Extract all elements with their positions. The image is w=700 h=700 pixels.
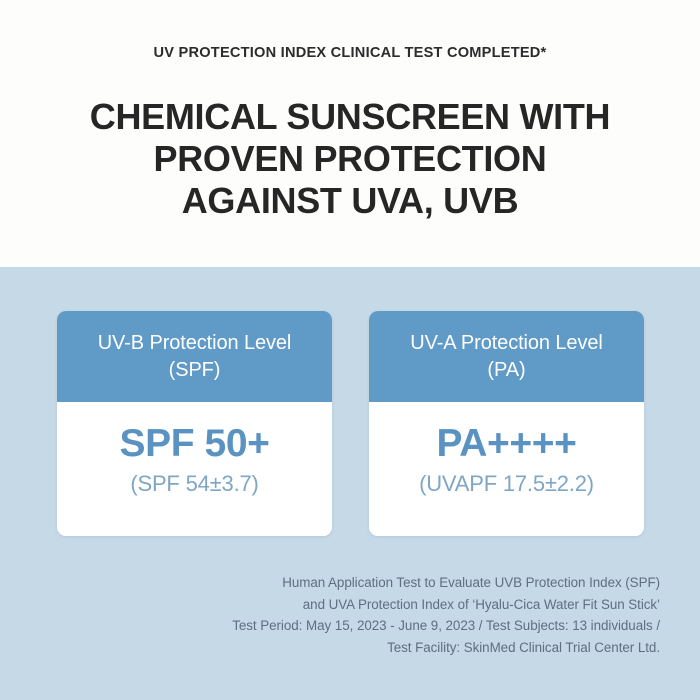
promo-infographic: UV PROTECTION INDEX CLINICAL TEST COMPLE… (0, 0, 700, 700)
headline-line-3: AGAINST UVA, UVB (0, 180, 700, 222)
headline-line-1: CHEMICAL SUNSCREEN WITH (0, 96, 700, 138)
card-uvb-body: SPF 50+ (SPF 54±3.7) (57, 402, 332, 536)
protection-cards: UV-B Protection Level (SPF) SPF 50+ (SPF… (57, 311, 644, 536)
card-uva-body: PA++++ (UVAPF 17.5±2.2) (369, 402, 644, 536)
card-uva-header: UV-A Protection Level (PA) (369, 311, 644, 402)
headline-line-2: PROVEN PROTECTION (0, 138, 700, 180)
eyebrow-text: UV PROTECTION INDEX CLINICAL TEST COMPLE… (0, 45, 700, 61)
card-uvb-value: SPF 50+ (119, 422, 269, 466)
footnote: Human Application Test to Evaluate UVB P… (40, 572, 660, 658)
card-uva-header-line-1: UV-A Protection Level (410, 330, 602, 357)
card-uva-pa: UV-A Protection Level (PA) PA++++ (UVAPF… (369, 311, 644, 536)
card-uvb-header-line-1: UV-B Protection Level (98, 330, 292, 357)
card-uva-value: PA++++ (437, 422, 577, 466)
footnote-line-2: and UVA Protection Index of ‘Hyalu-Cica … (40, 594, 660, 616)
footnote-line-3: Test Period: May 15, 2023 - June 9, 2023… (40, 615, 660, 637)
card-uvb-header-text: UV-B Protection Level (SPF) (98, 330, 292, 384)
footnote-line-4: Test Facility: SkinMed Clinical Trial Ce… (40, 637, 660, 659)
footnote-line-1: Human Application Test to Evaluate UVB P… (40, 572, 660, 594)
card-uva-header-text: UV-A Protection Level (PA) (410, 330, 602, 384)
card-uva-subvalue: (UVAPF 17.5±2.2) (419, 470, 594, 498)
page-title: CHEMICAL SUNSCREEN WITH PROVEN PROTECTIO… (0, 96, 700, 222)
card-uvb-header: UV-B Protection Level (SPF) (57, 311, 332, 402)
card-uvb-spf: UV-B Protection Level (SPF) SPF 50+ (SPF… (57, 311, 332, 536)
card-uva-header-line-2: (PA) (410, 357, 602, 384)
card-uvb-subvalue: (SPF 54±3.7) (130, 470, 258, 498)
card-uvb-header-line-2: (SPF) (98, 357, 292, 384)
